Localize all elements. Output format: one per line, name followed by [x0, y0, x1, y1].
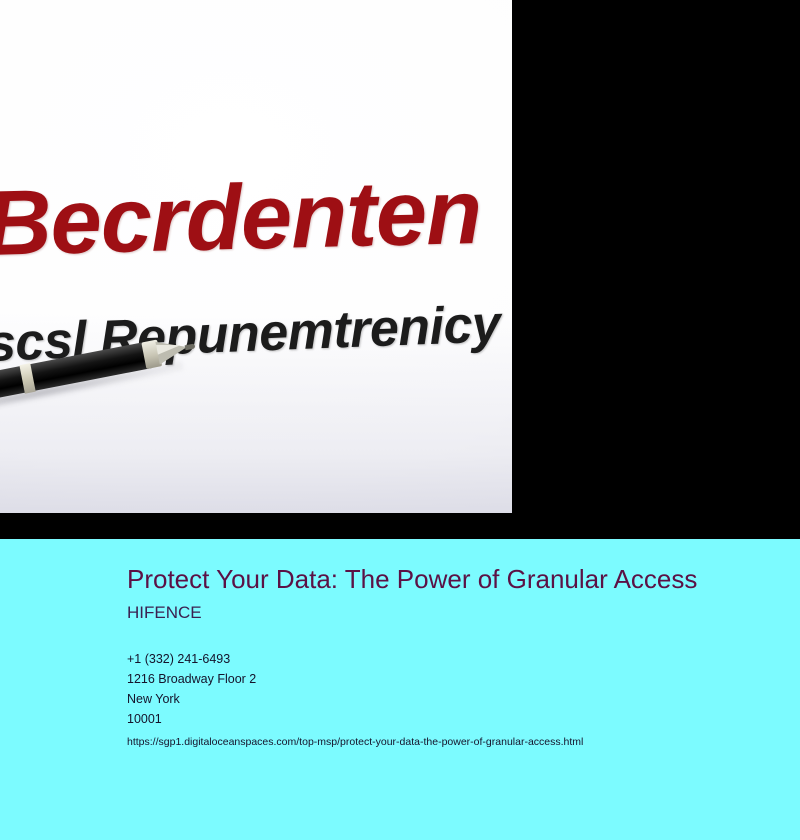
contact-zip: 10001	[127, 709, 747, 729]
hero-photo: Becrdenten scsl Repunemtrenicy	[0, 0, 512, 513]
content-panel: Protect Your Data: The Power of Granular…	[0, 539, 800, 840]
source-url-link[interactable]: https://sgp1.digitaloceanspaces.com/top-…	[127, 735, 747, 749]
photo-red-headline-text: Becrdenten	[0, 164, 512, 270]
pen-tip	[185, 343, 196, 350]
contact-street: 1216 Broadway Floor 2	[127, 669, 747, 689]
contact-phone: +1 (332) 241-6493	[127, 649, 747, 669]
article-text-block: Protect Your Data: The Power of Granular…	[127, 565, 747, 749]
brand-name: HIFENCE	[127, 603, 747, 623]
contact-details-list: +1 (332) 241-6493 1216 Broadway Floor 2 …	[127, 649, 747, 729]
contact-city: New York	[127, 689, 747, 709]
page-title: Protect Your Data: The Power of Granular…	[127, 565, 747, 595]
media-band: Becrdenten scsl Repunemtrenicy	[0, 0, 800, 539]
